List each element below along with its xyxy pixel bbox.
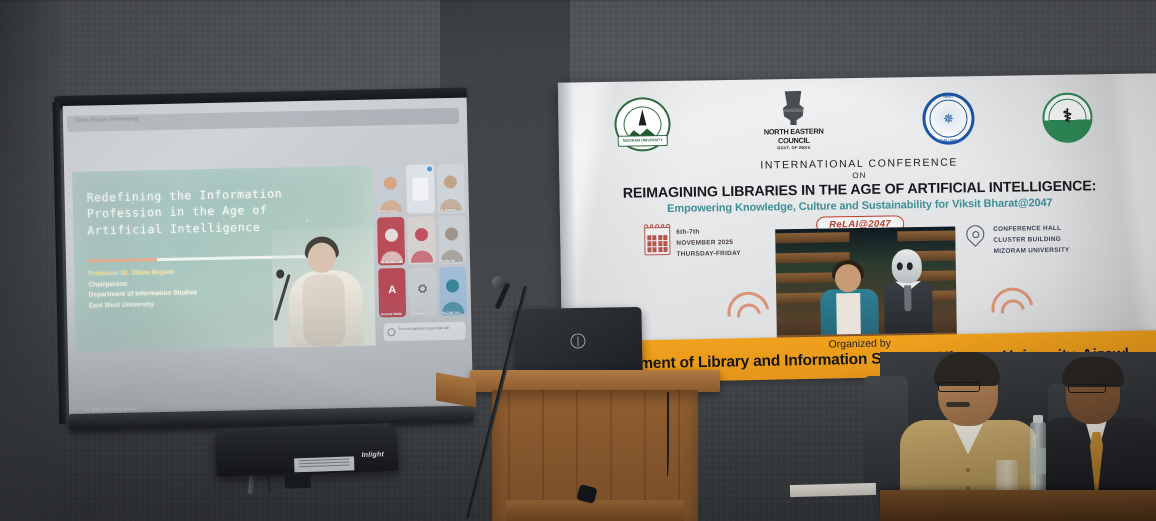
participant-torso bbox=[411, 251, 433, 263]
participant-name-label: Dr. Anand... bbox=[440, 207, 463, 211]
conference-hall-photo: Dilara Begum (Presenting) Redefining the… bbox=[0, 0, 1156, 521]
speaker-photo bbox=[271, 228, 375, 348]
participant-tile[interactable]: RAJAN SH... bbox=[439, 267, 467, 316]
participant-face bbox=[383, 177, 396, 190]
blue-logo-top-text: NEHU bbox=[922, 94, 974, 99]
mizoram-university-logo: MIZORAM UNIVERSITY bbox=[614, 97, 671, 152]
captions-icon bbox=[387, 328, 395, 336]
mizoram-university-logo-caption: MIZORAM UNIVERSITY bbox=[618, 135, 668, 147]
participant-app-icon: ⛭ bbox=[418, 283, 427, 296]
participant-tile[interactable]: Dr. Anand... bbox=[437, 164, 465, 213]
participant-name-label: S admin bbox=[411, 311, 434, 315]
projector-body: Inlight bbox=[215, 427, 398, 477]
participant-name-label: TK MURLI-AN... bbox=[380, 260, 403, 264]
captions-prompt-text: Turn on captions to join this call bbox=[398, 326, 462, 332]
participant-name-label: Sarita Sir bbox=[441, 259, 464, 263]
drinking-glass bbox=[996, 460, 1018, 492]
podium-top bbox=[470, 370, 720, 392]
participant-tile[interactable]: AAnchal Malik bbox=[378, 268, 406, 317]
presenting-indicator-icon bbox=[427, 166, 432, 171]
participant-tile[interactable] bbox=[407, 216, 435, 265]
participant-tile[interactable] bbox=[406, 164, 434, 213]
laptop bbox=[513, 307, 642, 375]
participant-tile[interactable]: Dilara Beg... bbox=[376, 165, 404, 214]
presentation-slide: Redefining the Information Profession in… bbox=[67, 132, 468, 372]
eyeglasses-icon bbox=[938, 382, 980, 392]
blue-logo-bottom-text: SHILLONG bbox=[923, 138, 975, 143]
participant-face bbox=[446, 279, 459, 292]
participant-face bbox=[415, 228, 428, 241]
participant-name-label: Anchal Malik bbox=[381, 312, 404, 316]
speaker-role: Chairperson bbox=[88, 276, 288, 291]
shared-screen-thumbnail bbox=[413, 177, 429, 201]
speaker-name: Professor Dr. Dilara Begum bbox=[88, 265, 288, 280]
banner-logo-row: MIZORAM UNIVERSITY NORTH EASTERN COUNCIL… bbox=[558, 85, 1156, 156]
calendar-icon bbox=[644, 227, 670, 255]
projector-sticker bbox=[294, 456, 354, 472]
india-emblem-icon bbox=[780, 91, 807, 125]
banner-date-block: 6th-7th NOVEMBER 2025 THURSDAY-FRIDAY bbox=[644, 225, 771, 260]
speaker-affiliation: East West University bbox=[89, 297, 289, 312]
green-logo-symbol-icon: ⚕ bbox=[1062, 107, 1072, 125]
podium-shelf bbox=[506, 500, 684, 521]
slide-title: Redefining the Information Profession in… bbox=[86, 185, 327, 239]
screen-surface: Dilara Begum (Presenting) Redefining the… bbox=[63, 98, 473, 418]
slide-canvas: Redefining the Information Profession in… bbox=[72, 166, 376, 352]
slide-divider bbox=[88, 254, 334, 262]
participant-face bbox=[384, 229, 397, 242]
projector-brand-label: Inlight bbox=[361, 451, 384, 459]
water-bottle bbox=[1030, 422, 1046, 494]
projection-screen: Dilara Begum (Presenting) Redefining the… bbox=[34, 87, 481, 436]
dais-table bbox=[880, 490, 1156, 521]
captions-prompt[interactable]: Turn on captions to join this call bbox=[383, 322, 465, 342]
participant-tile-grid: Dilara Beg...Dr. Anand...TK MURLI-AN...S… bbox=[376, 164, 467, 318]
eyeglasses-icon-2 bbox=[1068, 384, 1106, 393]
slide-speaker-block: Professor Dr. Dilara Begum Chairperson D… bbox=[88, 265, 289, 312]
papers-on-table bbox=[790, 483, 876, 497]
participant-name-label: Dilara Beg... bbox=[379, 209, 402, 213]
blue-logo-star-icon: ✵ bbox=[943, 112, 954, 125]
speaker-department: Department of Information Studies bbox=[89, 287, 289, 302]
participant-name-label: RAJAN SH... bbox=[442, 311, 465, 315]
ceiling-projector: Inlight bbox=[205, 421, 407, 496]
participant-tile[interactable]: ⛭S admin bbox=[408, 268, 436, 317]
nec-line-2: GOVT. OF INDIA bbox=[759, 144, 829, 150]
banner-venue-block: CONFERENCE HALL CLUSTER BUILDING MIZORAM… bbox=[964, 222, 1115, 257]
participant-tile[interactable]: Sarita Sir bbox=[438, 215, 466, 264]
green-institutional-logo: ⚕ bbox=[1042, 92, 1093, 143]
participant-initial: A bbox=[388, 284, 396, 296]
speaker-podium bbox=[470, 310, 720, 521]
north-eastern-council-logo: NORTH EASTERN COUNCIL GOVT. OF INDIA bbox=[758, 90, 829, 153]
banner-artwork-library-robot bbox=[775, 227, 957, 350]
blue-institutional-logo: NEHU ✵ SHILLONG bbox=[922, 92, 975, 145]
participant-face bbox=[444, 176, 457, 189]
dais-seating-area bbox=[880, 352, 1156, 521]
banner-venue-line-3: MIZORAM UNIVERSITY bbox=[993, 245, 1069, 257]
participant-tile[interactable]: TK MURLI-AN... bbox=[377, 217, 405, 266]
nec-line-1: NORTH EASTERN COUNCIL bbox=[759, 126, 829, 145]
projector-bracket bbox=[285, 472, 312, 489]
participant-face bbox=[445, 227, 458, 240]
power-cable bbox=[666, 392, 669, 476]
banner-artwork-robot bbox=[880, 249, 937, 342]
location-pin-icon bbox=[964, 224, 986, 252]
banner-date-line-3: THURSDAY-FRIDAY bbox=[676, 248, 741, 260]
